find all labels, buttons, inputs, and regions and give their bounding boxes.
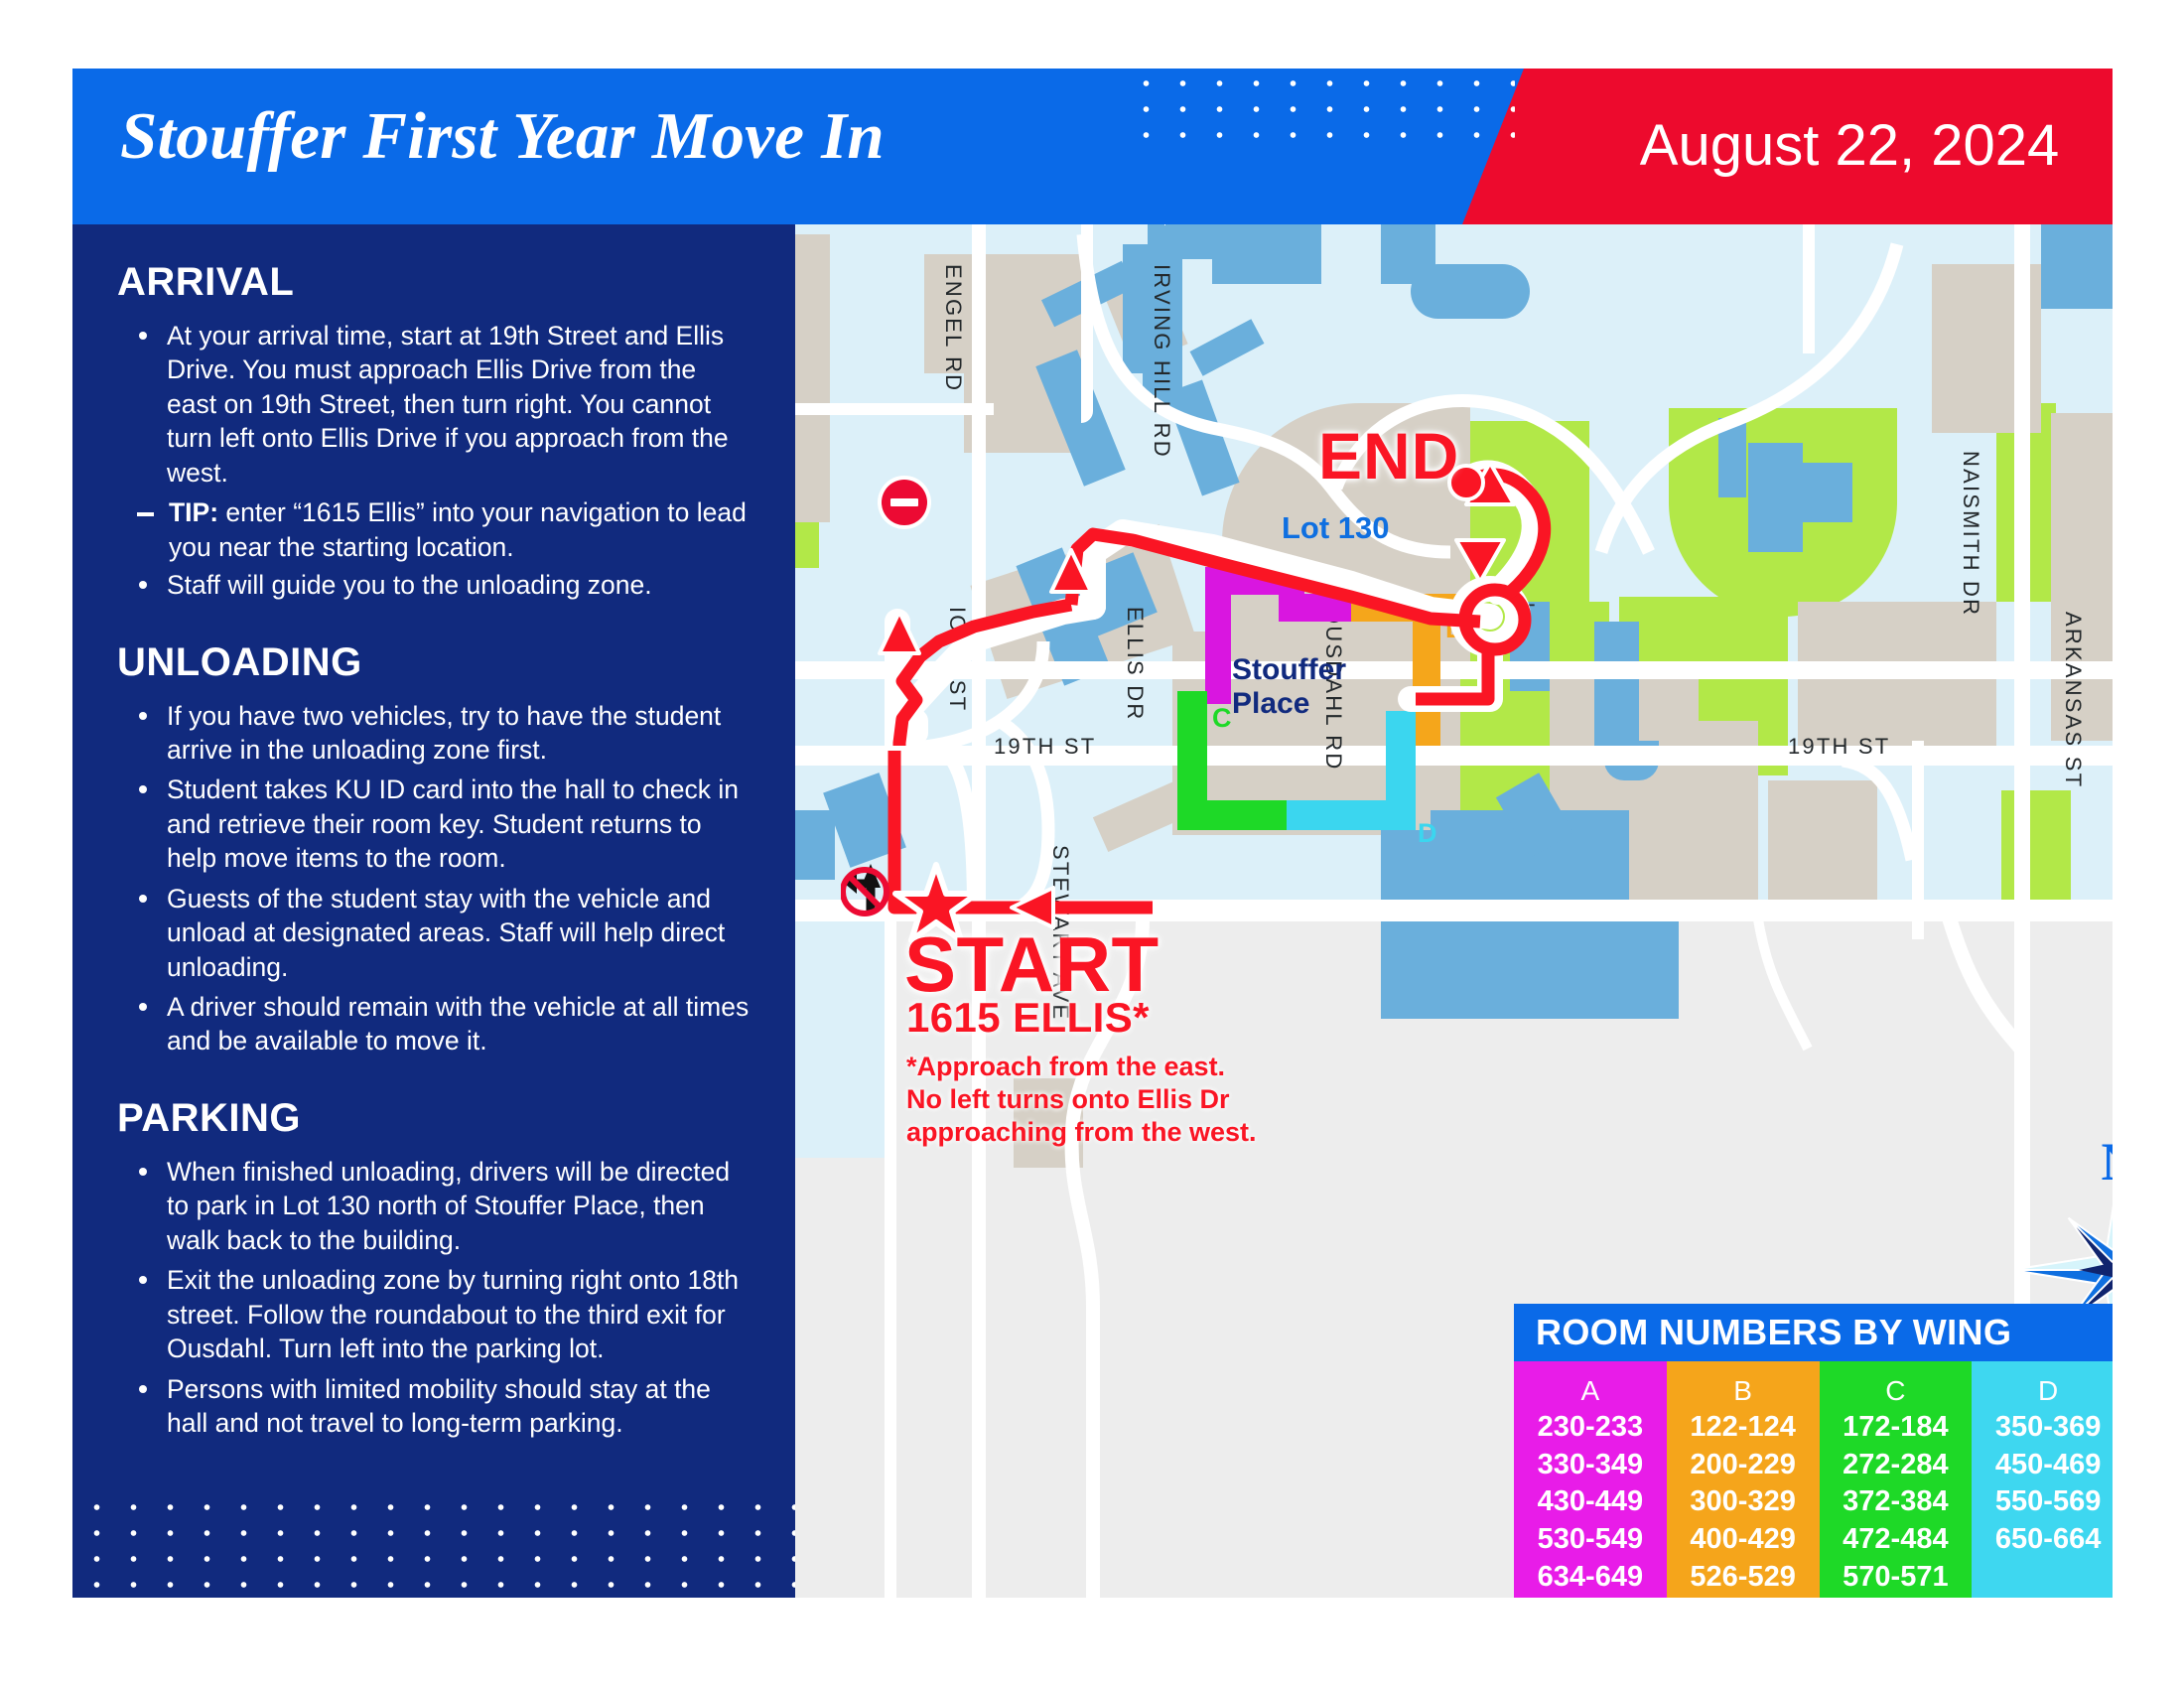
room-column-a: A 230-233 330-349 430-449 530-549 634-64… xyxy=(1514,1361,1667,1598)
arrival-sub-list: TIP: enter “1615 Ellis” into your naviga… xyxy=(117,495,752,564)
room-range: 526-529 xyxy=(1667,1559,1820,1597)
page-title: Stouffer First Year Move In xyxy=(120,98,1311,175)
wing-letter: C xyxy=(1820,1373,1973,1409)
room-column-c: C 172-184 272-284 372-384 472-484 570-57… xyxy=(1820,1361,1973,1598)
room-range: 272-284 xyxy=(1820,1447,1973,1484)
section-heading-parking: PARKING xyxy=(117,1096,752,1141)
unloading-bullet-list: If you have two vehicles, try to have th… xyxy=(117,699,752,1058)
wing-letter: D xyxy=(1972,1373,2113,1409)
room-range: 550-569 xyxy=(1972,1483,2113,1521)
list-item: At your arrival time, start at 19th Stre… xyxy=(117,319,752,490)
list-item: Staff will guide you to the unloading zo… xyxy=(117,568,752,602)
room-range: 650-664 xyxy=(1972,1521,2113,1559)
compass-north-label: N xyxy=(2021,1131,2113,1193)
room-range: 530-549 xyxy=(1514,1521,1667,1559)
room-numbers-table: ROOM NUMBERS BY WING A 230-233 330-349 4… xyxy=(1514,1304,2113,1598)
wing-letter: A xyxy=(1514,1373,1667,1409)
parking-bullet-list: When finished unloading, drivers will be… xyxy=(117,1155,752,1441)
section-heading-unloading: UNLOADING xyxy=(117,640,752,685)
room-table-header: ROOM NUMBERS BY WING xyxy=(1514,1304,2113,1361)
flyer-page: Stouffer First Year Move In August 22, 2… xyxy=(72,69,2113,1598)
arrival-bullet-list: At your arrival time, start at 19th Stre… xyxy=(117,319,752,603)
room-range: 122-124 xyxy=(1667,1409,1820,1447)
instructions-sidebar: ARRIVAL At your arrival time, start at 1… xyxy=(72,224,795,1598)
room-column-d: D 350-369 450-469 550-569 650-664 xyxy=(1972,1361,2113,1598)
room-range: 372-384 xyxy=(1820,1483,1973,1521)
start-note: *Approach from the east. No left turns o… xyxy=(906,1051,1257,1149)
list-item: Student takes KU ID card into the hall t… xyxy=(117,773,752,875)
room-range: 172-184 xyxy=(1820,1409,1973,1447)
room-range: 200-229 xyxy=(1667,1447,1820,1484)
room-range: 400-429 xyxy=(1667,1521,1820,1559)
list-item-tip: TIP: enter “1615 Ellis” into your naviga… xyxy=(117,495,752,564)
page-header: Stouffer First Year Move In August 22, 2… xyxy=(72,69,2113,224)
room-range: 472-484 xyxy=(1820,1521,1973,1559)
wing-letter: B xyxy=(1667,1373,1820,1409)
list-item: Persons with limited mobility should sta… xyxy=(117,1372,752,1441)
room-range: 330-349 xyxy=(1514,1447,1667,1484)
list-item: A driver should remain with the vehicle … xyxy=(117,990,752,1058)
list-item: Exit the unloading zone by turning right… xyxy=(117,1263,752,1365)
start-address: 1615 ELLIS* xyxy=(906,994,1150,1042)
event-date: August 22, 2024 xyxy=(1571,112,2113,179)
end-label: END xyxy=(1318,418,1459,493)
tip-label: TIP: xyxy=(169,497,218,527)
no-entry-icon xyxy=(882,480,927,525)
list-item: If you have two vehicles, try to have th… xyxy=(117,699,752,768)
room-range: 430-449 xyxy=(1514,1483,1667,1521)
room-range: 350-369 xyxy=(1972,1409,2113,1447)
no-left-turn-icon xyxy=(841,858,900,917)
tip-text: enter “1615 Ellis” into your navigation … xyxy=(169,497,747,561)
room-table-columns: A 230-233 330-349 430-449 530-549 634-64… xyxy=(1514,1361,2113,1598)
room-range: 300-329 xyxy=(1667,1483,1820,1521)
room-table-title: ROOM NUMBERS BY WING xyxy=(1536,1312,2011,1353)
room-range: 450-469 xyxy=(1972,1447,2113,1484)
section-heading-arrival: ARRIVAL xyxy=(117,260,752,305)
room-range: 634-649 xyxy=(1514,1559,1667,1597)
list-item: Guests of the student stay with the vehi… xyxy=(117,882,752,984)
sidebar-dot-pattern xyxy=(72,1486,795,1598)
room-range: 570-571 xyxy=(1820,1559,1973,1597)
room-range: 230-233 xyxy=(1514,1409,1667,1447)
campus-map[interactable]: ENGEL RD IRVING HILL RD NAISMITH DR ARKA… xyxy=(795,224,2113,1598)
list-item: When finished unloading, drivers will be… xyxy=(117,1155,752,1257)
room-column-b: B 122-124 200-229 300-329 400-429 526-52… xyxy=(1667,1361,1820,1598)
